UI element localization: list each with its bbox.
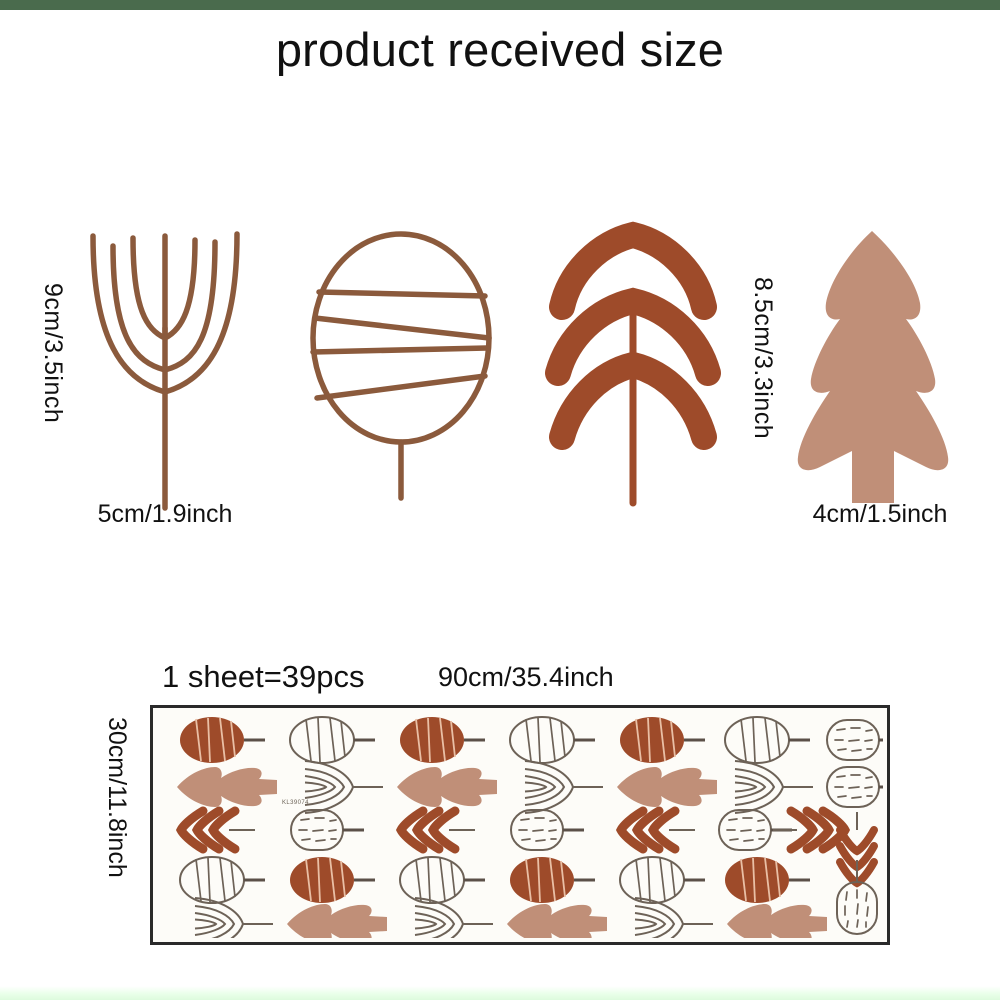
chevron-tree-decal <box>548 225 718 505</box>
sample-decals-row: 9cm/3.5inch 5cm/1.9inch <box>0 195 1000 585</box>
decal-sheet-grid: KL39074 <box>157 712 883 938</box>
decal-sheet-section: 1 sheet=39pcs 90cm/35.4inch 30cm/11.8inc… <box>150 705 890 945</box>
sheet-height-label: 30cm/11.8inch <box>102 717 131 878</box>
top-edge-band <box>0 0 1000 10</box>
sample-right-width-label: 4cm/1.5inch <box>780 500 980 529</box>
sheet-product-code: KL39074 <box>282 800 309 806</box>
striped-oval-leaf-decal <box>305 230 505 500</box>
sample-left-width-label: 5cm/1.9inch <box>75 500 255 529</box>
sample-right-height-label: 8.5cm/3.3inch <box>748 277 777 439</box>
product-size-infographic: product received size 9cm/3.5inch 5cm/1.… <box>0 0 1000 1000</box>
sheet-motifs <box>157 712 883 938</box>
sheet-width-label: 90cm/35.4inch <box>438 662 614 693</box>
sheet-pieces-label: 1 sheet=39pcs <box>162 659 365 695</box>
page-title: product received size <box>0 22 1000 77</box>
decal-sheet: KL39074 <box>150 705 890 945</box>
bottom-edge-band <box>0 986 1000 1000</box>
pine-tree-decal <box>790 225 955 510</box>
sample-left-height-label: 9cm/3.5inch <box>38 283 67 423</box>
fern-branch-decal <box>75 220 255 510</box>
